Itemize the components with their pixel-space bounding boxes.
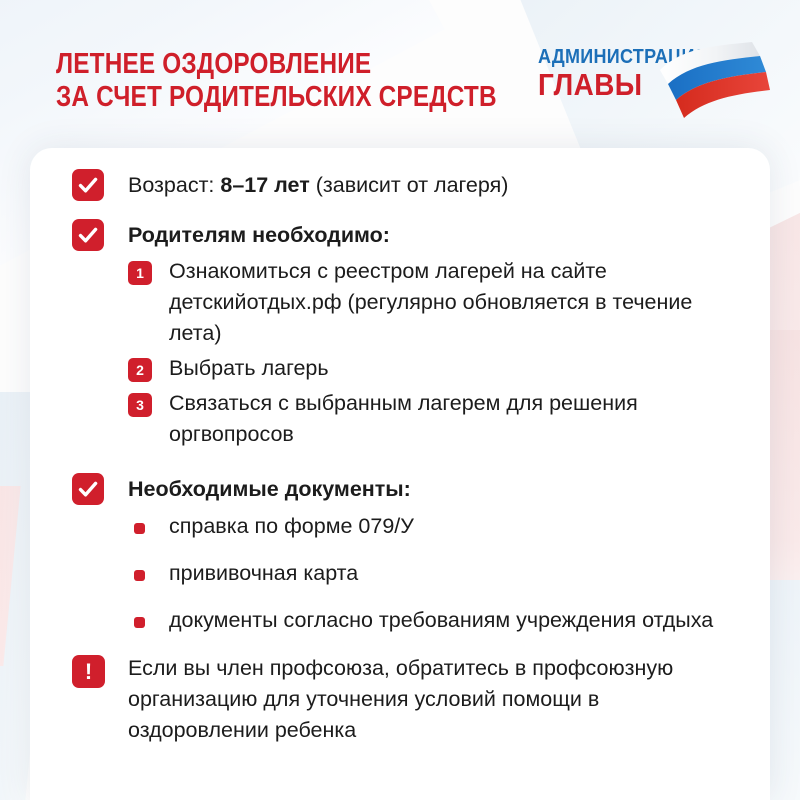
check-icon <box>72 169 104 201</box>
bullet-square-icon <box>134 523 145 534</box>
document-text: документы согласно требованиям учреждени… <box>169 605 713 636</box>
document-text: прививочная карта <box>169 558 358 589</box>
notice-row: ! Если вы член профсоюза, обратитесь в п… <box>72 652 744 746</box>
age-row: Возраст: 8–17 лет (зависит от лагеря) <box>72 168 744 201</box>
check-icon <box>72 219 104 251</box>
step-item: 2 Выбрать лагерь <box>72 353 744 384</box>
list-item: справка по форме 079/У <box>72 511 744 542</box>
step-number-badge: 2 <box>128 358 152 382</box>
step-number-badge: 3 <box>128 393 152 417</box>
poster-header: ЛЕТНЕЕ ОЗДОРОВЛЕНИЕ ЗА СЧЕТ РОДИТЕЛЬСКИХ… <box>0 0 800 148</box>
poster: ЛЕТНЕЕ ОЗДОРОВЛЕНИЕ ЗА СЧЕТ РОДИТЕЛЬСКИХ… <box>0 0 800 800</box>
age-prefix: Возраст: <box>128 173 220 197</box>
step-number-badge: 1 <box>128 261 152 285</box>
content-card: Возраст: 8–17 лет (зависит от лагеря) Ро… <box>30 148 770 800</box>
parents-steps-list: 1 Ознакомиться с реестром лагерей на сай… <box>72 256 744 450</box>
documents-list: справка по форме 079/У прививочная карта… <box>72 511 744 636</box>
russian-flag-icon <box>656 40 772 124</box>
title-line-1: ЛЕТНЕЕ ОЗДОРОВЛЕНИЕ <box>56 48 497 81</box>
step-text: Связаться с выбранным лагерем для решени… <box>169 388 744 450</box>
list-item: документы согласно требованиям учреждени… <box>72 605 744 636</box>
parents-heading: Родителям необходимо: <box>128 218 390 251</box>
bullet-square-icon <box>134 617 145 628</box>
title-line-2: ЗА СЧЕТ РОДИТЕЛЬСКИХ СРЕДСТВ <box>56 81 497 114</box>
age-value: 8–17 лет <box>220 173 309 197</box>
background-band-red-left <box>0 486 21 666</box>
notice-text: Если вы член профсоюза, обратитесь в про… <box>128 652 744 746</box>
list-item: прививочная карта <box>72 558 744 589</box>
document-text: справка по форме 079/У <box>169 511 414 542</box>
step-text: Выбрать лагерь <box>169 353 329 384</box>
parents-heading-row: Родителям необходимо: <box>72 218 744 251</box>
administration-logo: АДМИНИСТРАЦИЯ ГЛАВЫ <box>538 44 768 124</box>
step-item: 3 Связаться с выбранным лагерем для реше… <box>72 388 744 450</box>
age-suffix: (зависит от лагеря) <box>310 173 509 197</box>
step-text: Ознакомиться с реестром лагерей на сайте… <box>169 256 744 349</box>
check-icon <box>72 473 104 505</box>
poster-title: ЛЕТНЕЕ ОЗДОРОВЛЕНИЕ ЗА СЧЕТ РОДИТЕЛЬСКИХ… <box>56 48 581 114</box>
documents-heading: Необходимые документы: <box>128 472 411 505</box>
bullet-square-icon <box>134 570 145 581</box>
step-item: 1 Ознакомиться с реестром лагерей на сай… <box>72 256 744 349</box>
documents-heading-row: Необходимые документы: <box>72 472 744 505</box>
age-text: Возраст: 8–17 лет (зависит от лагеря) <box>128 168 508 201</box>
exclamation-icon: ! <box>72 655 105 688</box>
